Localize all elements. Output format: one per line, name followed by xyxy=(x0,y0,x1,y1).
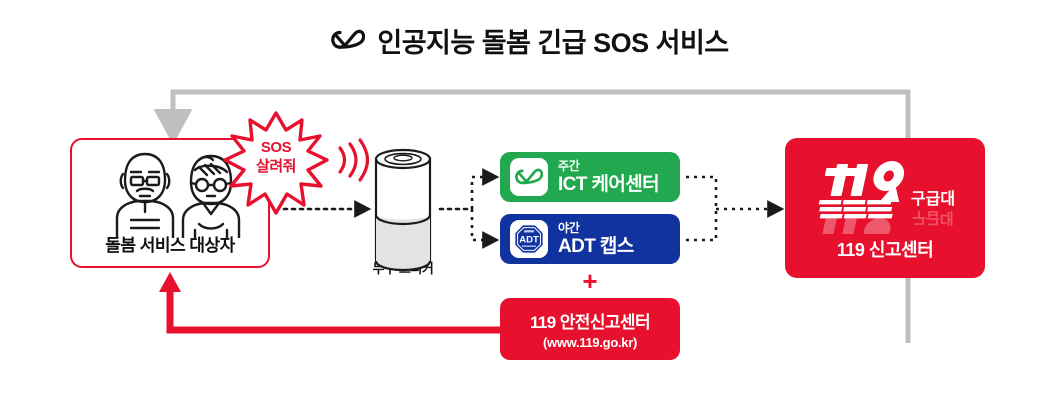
sos-burst-line2: 살려줘 xyxy=(222,157,330,176)
red-feedback-arrow xyxy=(159,272,512,330)
center-119-label: 119 신고센터 xyxy=(785,236,985,262)
sos-burst-text: SOS 살려줘 xyxy=(222,138,330,176)
safety-center-title: 119 안전신고센터 xyxy=(530,308,650,333)
beneficiary-label: 돌봄 서비스 대상자 xyxy=(72,231,268,256)
sos-burst: SOS 살려줘 xyxy=(222,110,330,216)
sos-burst-line1: SOS xyxy=(222,138,330,157)
safety-center-box[interactable]: 119 안전신고센터 (www.119.go.kr) xyxy=(500,298,680,360)
smart-speaker-icon xyxy=(372,145,434,275)
safety-center-url: (www.119.go.kr) xyxy=(543,335,637,350)
center-119-box[interactable]: 구급대 구급대 119 신고센터 xyxy=(785,138,985,278)
dotted-flow-arrow xyxy=(284,177,775,240)
svg-text:구급대: 구급대 xyxy=(912,209,953,226)
sound-waves-icon xyxy=(334,138,374,182)
diagram-canvas: 인공지능 돌봄 긴급 SOS 서비스 xyxy=(0,0,1060,400)
119-logo-suffix: 구급대 xyxy=(911,190,955,208)
